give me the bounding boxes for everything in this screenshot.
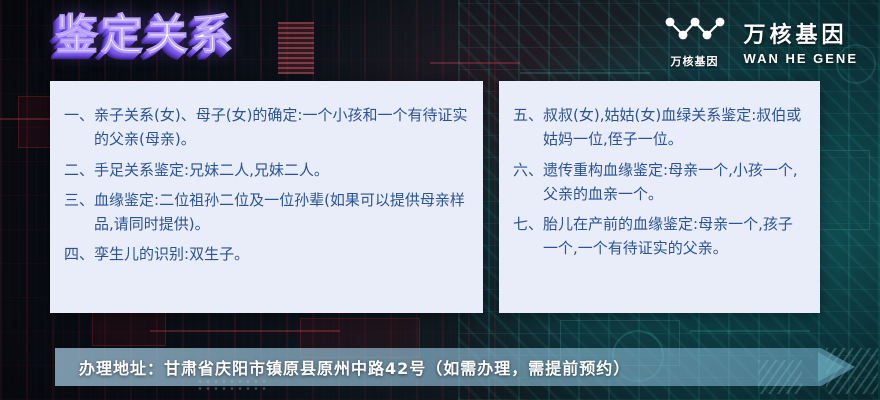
list-item-text: 血缘鉴定:二位祖孙二位及一位孙辈(如果可以提供母亲样品,请同时提供)。	[94, 188, 469, 237]
list-item: 七、 胎儿在产前的血缘鉴定:母亲一个,孩子一个,一个有待证实的父亲。	[513, 212, 806, 261]
brand-mark: 万核基因	[662, 14, 728, 69]
list-item-text: 孪生儿的识别:双生子。	[94, 242, 469, 266]
list-item: 一、 亲子关系(女)、母子(女)的确定:一个小孩和一个有待证实的父亲(母亲)。	[64, 103, 469, 152]
list-item-text: 叔叔(女),姑姑(女)血绿关系鉴定:叔伯或姑妈一位,侄子一位。	[543, 103, 806, 152]
list-item: 二、 手足关系鉴定:兄妹二人,兄妹二人。	[64, 158, 469, 182]
list-item-text: 胎儿在产前的血缘鉴定:母亲一个,孩子一个,一个有待证实的父亲。	[543, 212, 806, 261]
list-item-number: 七、	[513, 212, 543, 261]
list-item-number: 六、	[513, 158, 543, 207]
brand-mark-label: 万核基因	[671, 53, 719, 69]
list-item-text: 遗传重构血缘鉴定:母亲一个,小孩一个,父亲的血亲一个。	[543, 158, 806, 207]
footer-address-banner: 办理地址：甘肃省庆阳市镇原县原州中路42号（如需办理，需提前预约）	[55, 348, 855, 386]
list-item-text: 亲子关系(女)、母子(女)的确定:一个小孩和一个有待证实的父亲(母亲)。	[94, 103, 469, 152]
footer-address-text: 办理地址：甘肃省庆阳市镇原县原州中路42号（如需办理，需提前预约）	[55, 355, 630, 379]
services-card-right: 五、 叔叔(女),姑姑(女)血绿关系鉴定:叔伯或姑妈一位,侄子一位。 六、 遗传…	[499, 81, 820, 313]
services-card-left: 一、 亲子关系(女)、母子(女)的确定:一个小孩和一个有待证实的父亲(母亲)。 …	[50, 81, 483, 313]
list-item-number: 四、	[64, 242, 94, 266]
brand-name-en: WAN HE GENE	[744, 51, 858, 66]
list-item: 五、 叔叔(女),姑姑(女)血绿关系鉴定:叔伯或姑妈一位,侄子一位。	[513, 103, 806, 152]
list-item-number: 三、	[64, 188, 94, 237]
poster-canvas: 鉴定关系	[0, 0, 880, 400]
list-item: 六、 遗传重构血缘鉴定:母亲一个,小孩一个,父亲的血亲一个。	[513, 158, 806, 207]
list-item: 四、 孪生儿的识别:双生子。	[64, 242, 469, 266]
page-title: 鉴定关系	[56, 14, 236, 56]
list-item: 三、 血缘鉴定:二位祖孙二位及一位孙辈(如果可以提供母亲样品,请同时提供)。	[64, 188, 469, 237]
page-title-text: 鉴定关系	[56, 14, 236, 56]
brand-name-cn: 万核基因	[744, 17, 848, 49]
list-item-text: 手足关系鉴定:兄妹二人,兄妹二人。	[94, 158, 469, 182]
molecule-icon	[662, 14, 728, 49]
list-item-number: 一、	[64, 103, 94, 152]
brand-logo: 万核基因 万核基因 WAN HE GENE	[662, 14, 858, 69]
list-item-number: 二、	[64, 158, 94, 182]
brand-wordmark: 万核基因 WAN HE GENE	[744, 17, 858, 66]
list-item-number: 五、	[513, 103, 543, 152]
